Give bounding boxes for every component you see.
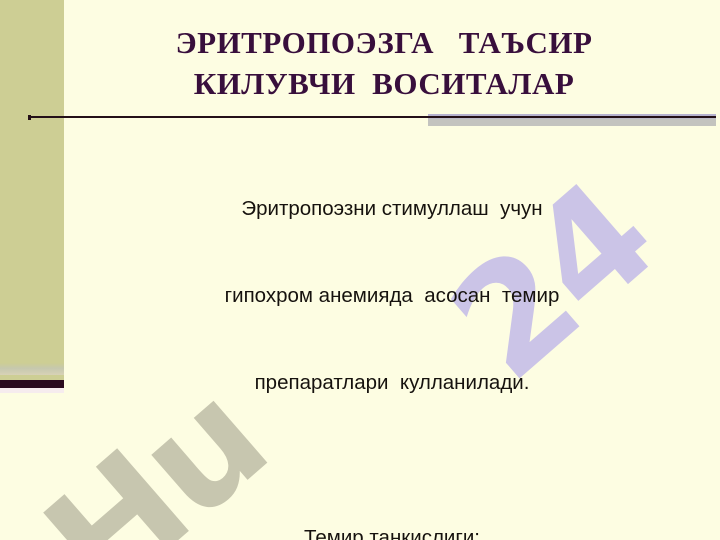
sidebar-bottom-stripe — [0, 380, 64, 388]
body-paragraph-1-line-3: препаратлари кулланилади. — [82, 368, 702, 397]
body-heading-text: Темир танкислиги: — [64, 523, 720, 540]
slide-content: ЭРИТРОПОЭЗГА ТАЪСИР КИЛУВЧИ ВОСИТАЛАР Эр… — [64, 0, 720, 540]
spacer-1 — [64, 455, 720, 465]
body-paragraph-1-line-2: гипохром анемияда асосан темир — [82, 281, 702, 310]
title-divider-cap — [28, 115, 31, 120]
body-paragraph-1-line-1: Эритропоэзни стимуллаш учун — [82, 194, 702, 223]
sidebar-accent-bar — [0, 0, 64, 383]
sidebar-bottom-stripe-highlight — [0, 388, 64, 393]
slide-canvas: Hu 24 ЭРИТРОПОЭЗГА ТАЪСИР КИЛУВЧИ ВОСИТА… — [0, 0, 720, 540]
title-divider — [28, 112, 716, 126]
slide-body: Эритропоэзни стимуллаш учун гипохром ане… — [64, 136, 720, 540]
slide-title: ЭРИТРОПОЭЗГА ТАЪСИР КИЛУВЧИ ВОСИТАЛАР — [64, 22, 704, 104]
slide-title-line-2: КИЛУВЧИ ВОСИТАЛАР — [64, 63, 704, 104]
title-divider-line — [28, 116, 716, 118]
body-heading: Темир танкислиги: — [64, 465, 720, 540]
body-paragraph-1: Эритропоэзни стимуллаш учун гипохром ане… — [64, 136, 720, 455]
sidebar-fade — [0, 363, 64, 375]
slide-title-line-1: ЭРИТРОПОЭЗГА ТАЪСИР — [64, 22, 704, 63]
